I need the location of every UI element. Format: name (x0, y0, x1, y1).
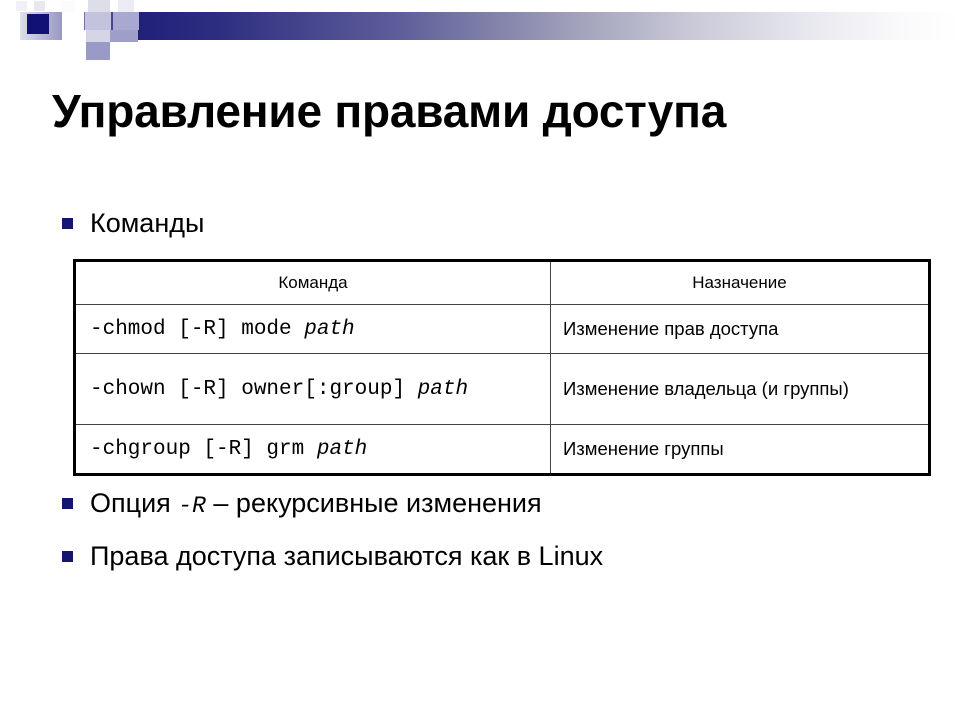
table-row: -chmod [-R] mode path Изменение прав дос… (75, 305, 930, 354)
table-header-row: Команда Назначение (75, 261, 930, 305)
banner-tile (62, 12, 84, 30)
banner-tile (61, 1, 75, 12)
cell-command: -chmod [-R] mode path (75, 305, 551, 354)
header-banner (0, 0, 960, 58)
banner-tile (62, 30, 86, 42)
bullet-option-recursive: Опция -R – рекурсивные изменения (62, 487, 542, 521)
banner-tile (34, 1, 45, 11)
command-argument: path (418, 378, 468, 401)
banner-tile (86, 30, 110, 42)
command-argument: path (317, 438, 367, 461)
option-flag-code: -R (178, 493, 206, 519)
cell-command: -chown [-R] owner[:group] path (75, 354, 551, 425)
cell-command: -chgroup [-R] grm path (75, 425, 551, 475)
table-row: -chown [-R] owner[:group] path Изменение… (75, 354, 930, 425)
banner-gradient-bar (0, 12, 960, 40)
command-text: -chown [-R] owner[:group] (90, 378, 418, 401)
square-bullet-icon (62, 551, 73, 562)
column-header-purpose: Назначение (551, 261, 930, 305)
banner-tile (85, 12, 111, 30)
banner-tile (110, 30, 138, 42)
banner-tile (113, 12, 139, 30)
banner-tile (16, 1, 27, 11)
square-bullet-icon (62, 218, 73, 229)
banner-accent-square (27, 14, 49, 34)
option-suffix: – рекурсивные изменения (206, 488, 542, 518)
slide-title: Управление правами доступа (52, 86, 932, 137)
bullet-option-recursive-label: Опция -R – рекурсивные изменения (90, 487, 542, 521)
banner-tile (86, 42, 110, 60)
cell-purpose: Изменение прав доступа (551, 305, 930, 354)
command-text: -chgroup [-R] grm (90, 438, 317, 461)
cell-purpose: Изменение владельца (и группы) (551, 354, 930, 425)
banner-tile (0, 12, 20, 40)
option-prefix: Опция (90, 488, 178, 518)
bullet-permissions-note: Права доступа записываются как в Linux (62, 540, 603, 572)
table-row: -chgroup [-R] grm path Изменение группы (75, 425, 930, 475)
command-argument: path (304, 318, 354, 341)
bullet-commands-label: Команды (90, 207, 204, 239)
banner-tile (118, 0, 134, 12)
square-bullet-icon (62, 498, 73, 509)
bullet-commands: Команды (62, 207, 204, 239)
bullet-permissions-note-label: Права доступа записываются как в Linux (90, 540, 603, 572)
command-text: -chmod [-R] mode (90, 318, 304, 341)
slide-root: { "slide": { "title": "Управление правам… (0, 0, 960, 720)
commands-table: Команда Назначение -chmod [-R] mode path… (73, 259, 931, 476)
banner-tile (88, 0, 110, 12)
column-header-command: Команда (75, 261, 551, 305)
cell-purpose: Изменение группы (551, 425, 930, 475)
